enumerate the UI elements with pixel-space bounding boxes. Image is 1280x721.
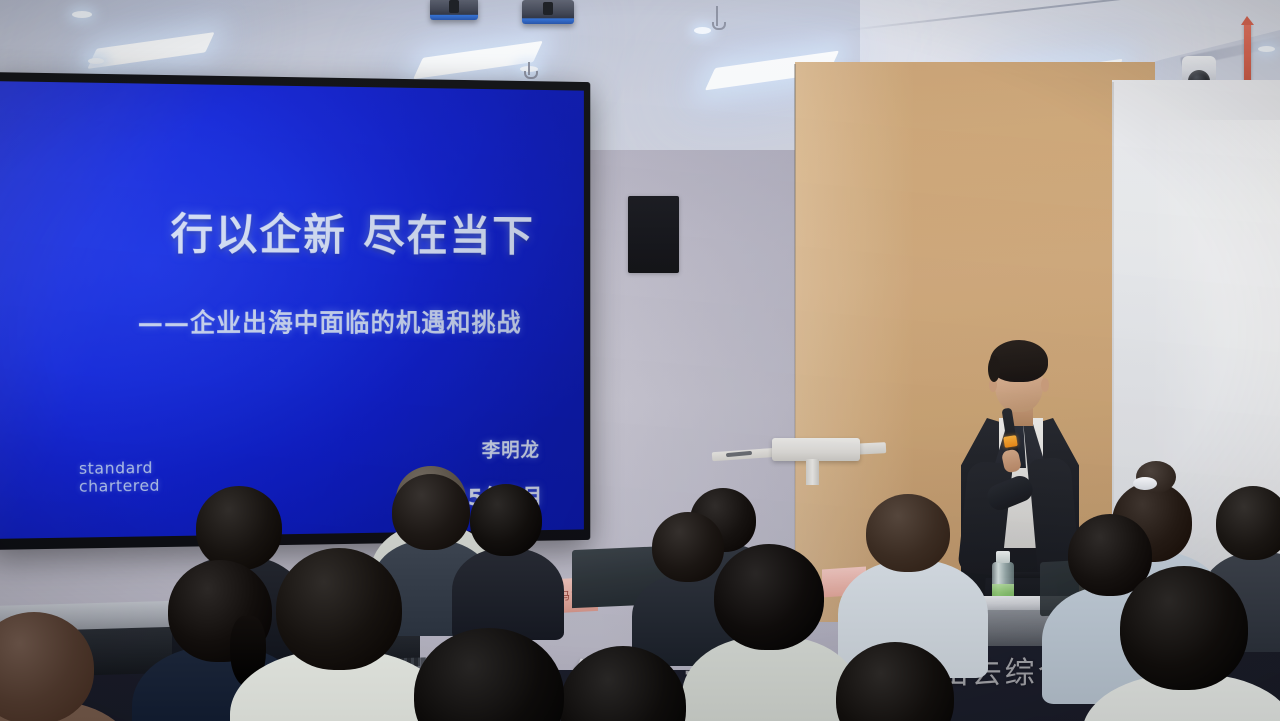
lectern-top: [772, 438, 860, 461]
wall-corner-edge: [794, 64, 796, 620]
audience-head: [1120, 566, 1248, 690]
ceiling-downlight-2: [694, 27, 711, 34]
ceiling-downlight-5: [1258, 46, 1275, 52]
logo-line-1: standard: [79, 459, 160, 478]
projection-screen: 行以企新 尽在当下 ——企业出海中面临的机遇和挑战 李明龙 2025年8月 st…: [0, 81, 584, 539]
security-camera-icon: [1182, 56, 1216, 82]
audience-head: [866, 494, 950, 572]
red-ceiling-marker-icon: [1244, 22, 1251, 88]
audience-hair-tie: [1133, 477, 1157, 490]
audience-head: [470, 484, 542, 556]
ceiling-mounted-projector-2: [522, 0, 574, 24]
audience-torso: [452, 548, 564, 640]
slide-author: 李明龙: [482, 434, 540, 463]
presenter-sideburn: [988, 356, 1000, 382]
presentation-photo: 行以企新 尽在当下 ——企业出海中面临的机遇和挑战 李明龙 2025年8月 st…: [0, 0, 1280, 721]
bottle-cap: [996, 551, 1010, 563]
projector-lens: [449, 0, 459, 13]
standard-chartered-logo: standard chartered: [79, 459, 160, 495]
presenter-ear-right: [1041, 378, 1049, 392]
microphone-band: [1003, 435, 1018, 448]
audience-head: [714, 544, 824, 650]
audience-head: [392, 474, 470, 550]
ceiling-hook-1: [716, 6, 718, 26]
wall-acoustic-panel: [628, 196, 679, 273]
slide-title: 行以企新 尽在当下: [171, 198, 535, 262]
ceiling-hook-2: [528, 62, 530, 75]
ceiling-downlight-3: [88, 58, 104, 64]
slide-subtitle: ——企业出海中面临的机遇和挑战: [138, 303, 522, 340]
audience-head: [1216, 486, 1280, 560]
ceiling-mounted-projector-1: [430, 0, 478, 20]
audience-head: [196, 486, 282, 570]
logo-line-2: chartered: [79, 477, 160, 496]
lectern-stem: [806, 459, 819, 485]
audience-head: [276, 548, 402, 670]
projector-lens: [543, 2, 553, 15]
audience-head: [652, 512, 724, 582]
ceiling-downlight-1: [72, 11, 92, 18]
projection-screen-frame: 行以企新 尽在当下 ——企业出海中面临的机遇和挑战 李明龙 2025年8月 st…: [0, 72, 590, 550]
